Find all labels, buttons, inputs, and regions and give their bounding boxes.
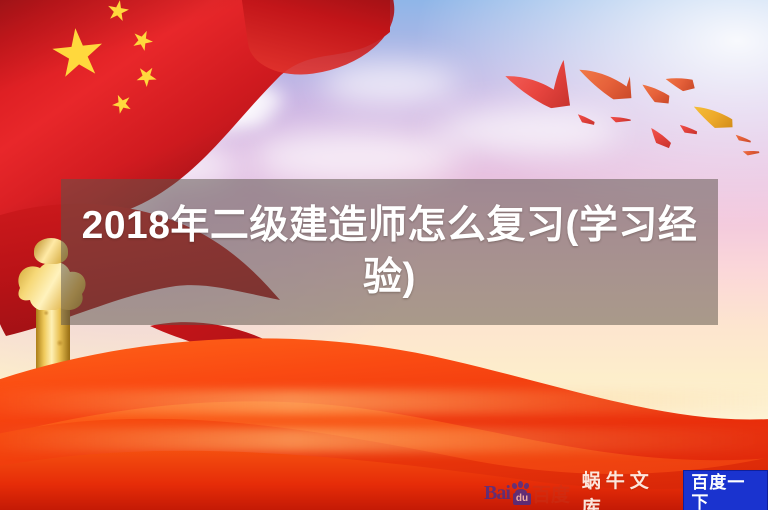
bird-icon [607,105,631,123]
hill-light-sheen [0,428,768,452]
watermark-bar: Bai du 百度 蜗牛文库 百度一下 [484,478,768,508]
baidu-paw-icon: du [511,481,531,505]
page-title: 2018年二级建造师怎么复习(学习经验) [77,200,702,304]
bird-icon [691,95,732,128]
bird-icon [502,58,570,114]
baidu-logo: Bai du 百度 [484,480,572,506]
bird-icon [661,63,694,95]
baidu-du-badge: du [513,493,531,505]
bird-icon [577,56,632,102]
site-name-watermark: 蜗牛文库 [578,466,678,510]
image-canvas: 2018年二级建造师怎么复习(学习经验) Bai du 百度 蜗牛文库 百度一下 [0,0,768,510]
baidu-search-button[interactable]: 百度一下 [683,470,768,510]
hill-light-sheen [0,390,768,414]
baidu-logo-latin-text: Bai [484,482,510,505]
bird-icon [645,118,677,148]
baidu-logo-chinese-text: 百度 [532,480,570,507]
bird-icon [739,138,760,156]
title-overlay-panel: 2018年二级建造师怎么复习(学习经验) [61,179,718,325]
